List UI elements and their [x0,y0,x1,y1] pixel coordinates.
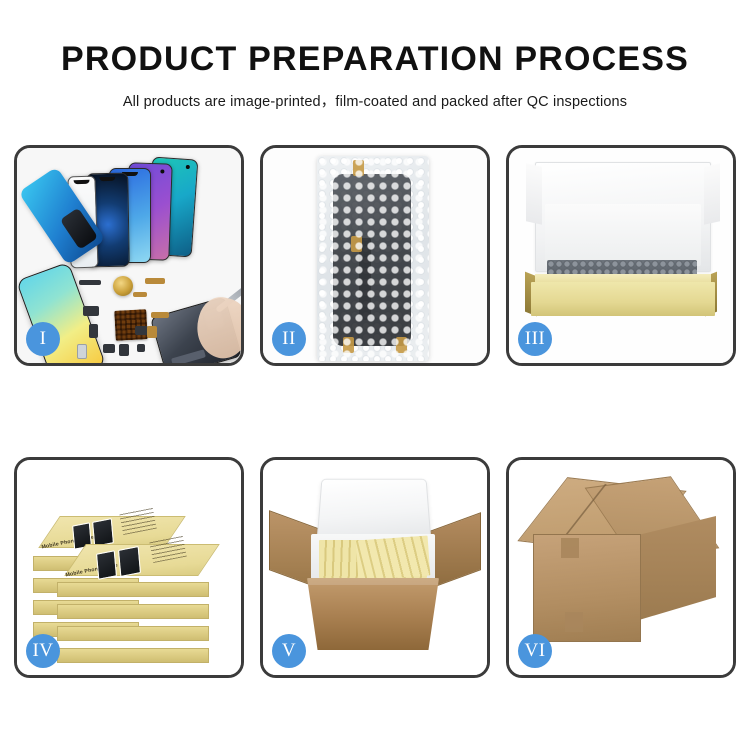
packed-boxes-icon [356,536,431,581]
box-side-icon [57,648,209,663]
box-window-icon [92,518,114,547]
carton-front-face-icon [533,534,641,642]
connector-tab-icon [343,337,354,353]
small-part-icon [137,344,145,352]
box-side-icon [57,582,209,597]
box-stack-icon: Mobile Phone Spare Parts Mobile Phone Sp… [27,482,239,660]
small-part-icon [89,324,98,338]
step-badge-3: III [518,322,552,356]
step-panel-1: I [14,145,244,366]
step-panel-3: III [506,145,736,366]
step-badge-1: I [26,322,60,356]
product-preparation-infographic: PRODUCT PREPARATION PROCESS All products… [0,0,750,750]
flex-cable-icon [145,278,165,284]
step-panel-5: V [260,457,490,678]
camera-punch-hole-icon [160,169,164,173]
camera-punch-hole-icon [186,165,190,169]
flex-cable-icon [133,292,147,297]
carton-tape-strip-icon [565,612,583,632]
kraft-box-front-icon [531,282,715,316]
foam-padding-icon [545,204,701,266]
connector-tab-icon [353,160,364,176]
bubble-wrap-bag-icon [317,156,429,361]
gold-coil-part-icon [113,276,133,296]
small-part-icon [119,344,129,356]
box-side-icon [57,604,209,619]
connector-tab-icon [396,337,407,353]
small-part-icon [77,344,87,359]
carton-tape-strip-icon [561,538,579,558]
display-notch-icon [74,180,90,185]
flex-cable-icon [151,312,169,318]
page-subtitle: All products are image-printed，film-coat… [0,76,750,111]
flex-cable-icon [147,326,157,338]
page-title: PRODUCT PREPARATION PROCESS [0,0,750,76]
step-badge-5: V [272,634,306,668]
lcd-assembly-icon [333,174,411,346]
connector-tab-icon [351,236,362,252]
display-notch-icon [99,177,115,181]
small-part-icon [103,344,115,353]
chip-grid-part-icon [114,309,148,341]
step-panel-4: Mobile Phone Spare Parts Mobile Phone Sp… [14,457,244,678]
step-badge-6: VI [518,634,552,668]
box-window-icon [96,550,117,580]
small-part-icon [83,306,99,316]
header: PRODUCT PREPARATION PROCESS All products… [0,0,750,111]
step-badge-2: II [272,322,306,356]
step-panel-2: II [260,145,490,366]
step-panel-6: VI [506,457,736,678]
process-step-grid: I II [14,145,736,678]
small-part-icon [79,280,101,285]
box-side-icon [57,626,209,641]
box-window-icon [118,546,141,577]
carton-body-icon [307,578,439,650]
step-badge-4: IV [26,634,60,668]
